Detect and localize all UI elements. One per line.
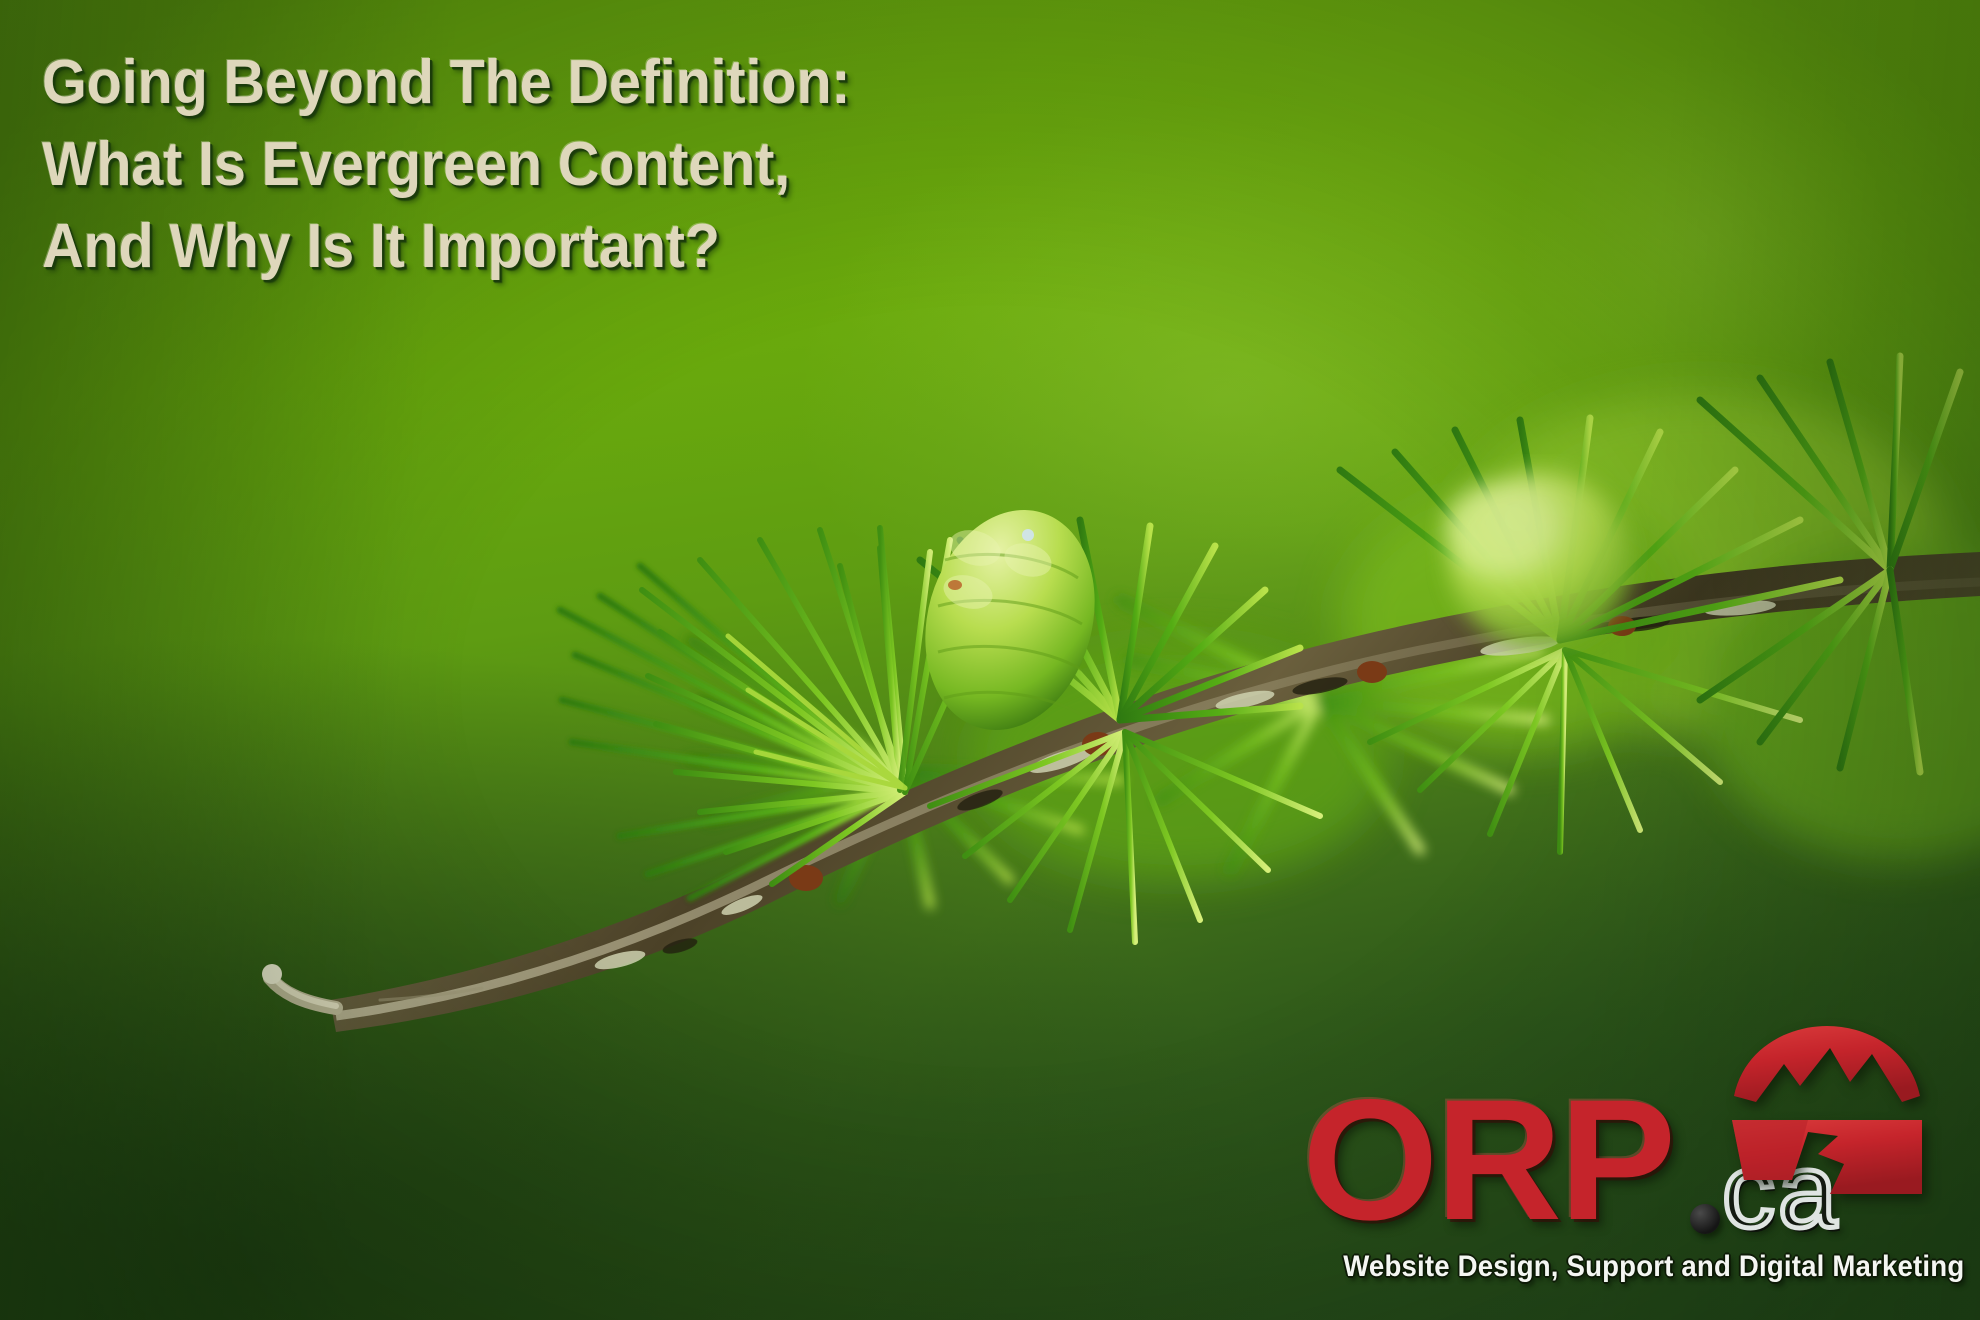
logo-tagline: Website Design, Support and Digital Mark… <box>1343 1250 1932 1284</box>
headline-line-2: What Is Evergreen Content, <box>42 124 1139 206</box>
orp-logo[interactable]: ORP ca Website Design, Support and D <box>1292 1030 1932 1284</box>
blog-banner: Going Beyond The Definition: What Is Eve… <box>0 0 1980 1320</box>
logo-lockup: ORP ca <box>1292 1030 1932 1240</box>
headline-line-1: Going Beyond The Definition: <box>42 42 1139 124</box>
page-title: Going Beyond The Definition: What Is Eve… <box>42 42 1222 288</box>
mountain-road-icon <box>1722 1024 1932 1224</box>
headline-line-3: And Why Is It Important? <box>42 206 1139 288</box>
logo-dot-icon <box>1690 1204 1720 1234</box>
logo-wordmark: ORP <box>1302 1074 1673 1246</box>
